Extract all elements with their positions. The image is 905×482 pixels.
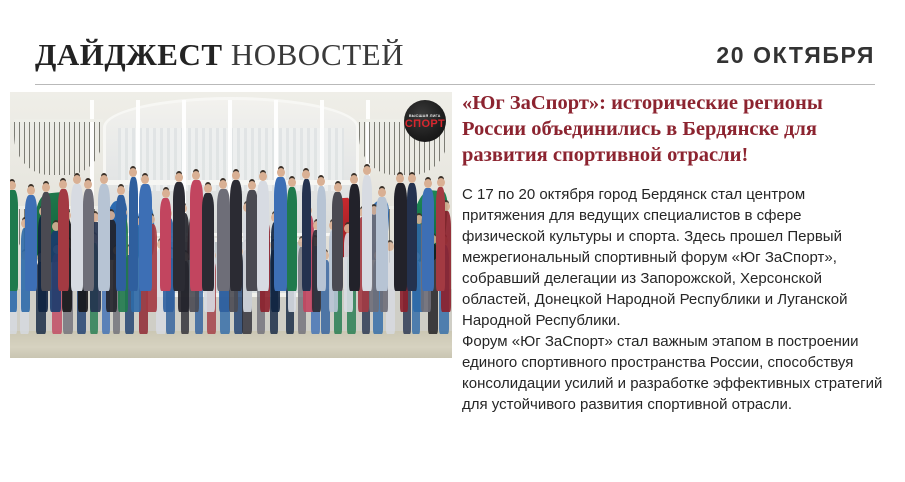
crowd-person — [436, 187, 445, 291]
crowd-person — [71, 184, 82, 291]
crowd-person — [230, 180, 242, 291]
crowd-person — [332, 192, 343, 291]
crowd-person — [376, 197, 387, 291]
crowd-person — [257, 181, 269, 291]
crowd-person — [287, 187, 297, 291]
crowd-person — [407, 183, 417, 291]
crowd-person — [10, 190, 18, 291]
crowd-group — [10, 180, 452, 334]
crowd-person — [116, 195, 126, 291]
masthead-divider — [35, 84, 875, 85]
crowd-person — [129, 177, 138, 291]
crowd-person — [394, 183, 407, 291]
article-paragraph: С 17 по 20 октября город Бердянск стал ц… — [462, 184, 887, 331]
crowd-person — [202, 193, 214, 291]
pavement — [10, 331, 452, 358]
crowd-person — [246, 190, 258, 291]
crowd-person — [41, 192, 52, 291]
crowd-person — [274, 177, 287, 291]
sport-watermark-logo: ВЫСШАЯ ЛИГА СПОРТ — [404, 100, 446, 142]
page-title: ДАЙДЖЕСТ НОВОСТЕЙ — [35, 36, 404, 74]
crowd-person — [349, 184, 360, 290]
crowd-person — [173, 182, 185, 291]
page-title-light: НОВОСТЕЙ — [231, 37, 404, 72]
photo-scene: ВЫСШАЯ ЛИГА СПОРТ — [10, 92, 452, 358]
issue-date: 20 ОКТЯБРЯ — [716, 42, 875, 69]
crowd-person — [160, 198, 171, 291]
crowd-person — [190, 180, 202, 290]
watermark-top-text: ВЫСШАЯ ЛИГА — [409, 113, 441, 118]
crowd-person — [422, 188, 434, 291]
article-column: «Юг ЗаСпорт»: исторические регионы Росси… — [462, 90, 887, 415]
digest-page: ДАЙДЖЕСТ НОВОСТЕЙ 20 ОКТЯБРЯ — [0, 0, 905, 482]
crowd-person — [362, 175, 372, 291]
article-body: С 17 по 20 октября город Бердянск стал ц… — [462, 184, 887, 415]
crowd-person — [302, 179, 311, 291]
crowd-person — [317, 186, 326, 291]
masthead: ДАЙДЖЕСТ НОВОСТЕЙ 20 ОКТЯБРЯ — [0, 0, 905, 85]
crowd-person — [58, 189, 69, 291]
crowd-person — [98, 184, 110, 291]
watermark-main-text: СПОРТ — [405, 118, 445, 130]
page-title-strong: ДАЙДЖЕСТ — [35, 37, 223, 72]
article-paragraph: Форум «Юг ЗаСпорт» стал важным этапом в … — [462, 331, 887, 415]
balcony-left-upper — [14, 119, 102, 175]
article-photo: ВЫСШАЯ ЛИГА СПОРТ — [10, 92, 452, 358]
crowd-person — [25, 195, 38, 291]
article-headline: «Юг ЗаСпорт»: исторические регионы Росси… — [462, 90, 887, 168]
crowd-person — [139, 184, 151, 291]
crowd-person — [217, 189, 230, 291]
crowd-person — [83, 189, 94, 291]
